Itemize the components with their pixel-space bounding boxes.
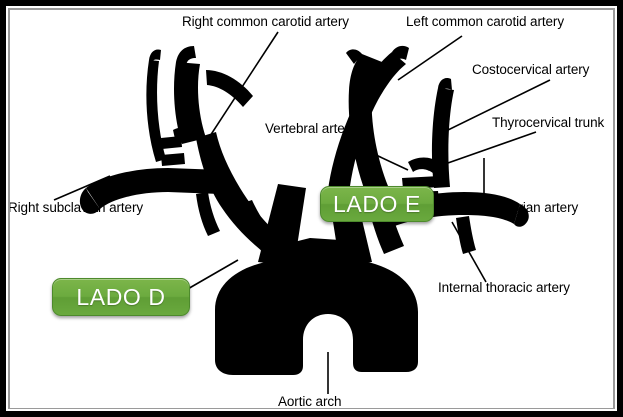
label-right-common-carotid-artery: Right common carotid artery [182, 14, 349, 30]
label-left-common-carotid-artery: Left common carotid artery [406, 14, 564, 30]
diagram-plate: Right common carotid artery Left common … [10, 10, 613, 408]
lado-e-label: LADO E [333, 191, 421, 218]
leader-left-common-carotid [398, 36, 462, 80]
label-vertebral-artery: Vertebral artery [265, 121, 356, 137]
screenshot-root: Right common carotid artery Left common … [0, 0, 623, 417]
label-thyrocervical-trunk: Thyrocervical trunk [492, 115, 604, 131]
label-costocervical-artery: Costocervical artery [472, 62, 589, 78]
lado-d-button[interactable]: LADO D [52, 278, 190, 316]
label-left-subclavian-artery: Left subclavian artery [452, 200, 578, 216]
label-right-subclavian-artery: Right subclavian artery [10, 200, 143, 216]
label-aortic-arch: Aortic arch [278, 394, 341, 408]
lado-d-label: LADO D [76, 284, 165, 311]
lado-e-button[interactable]: LADO E [320, 186, 434, 222]
label-internal-thoracic-artery: Internal thoracic artery [438, 280, 570, 296]
